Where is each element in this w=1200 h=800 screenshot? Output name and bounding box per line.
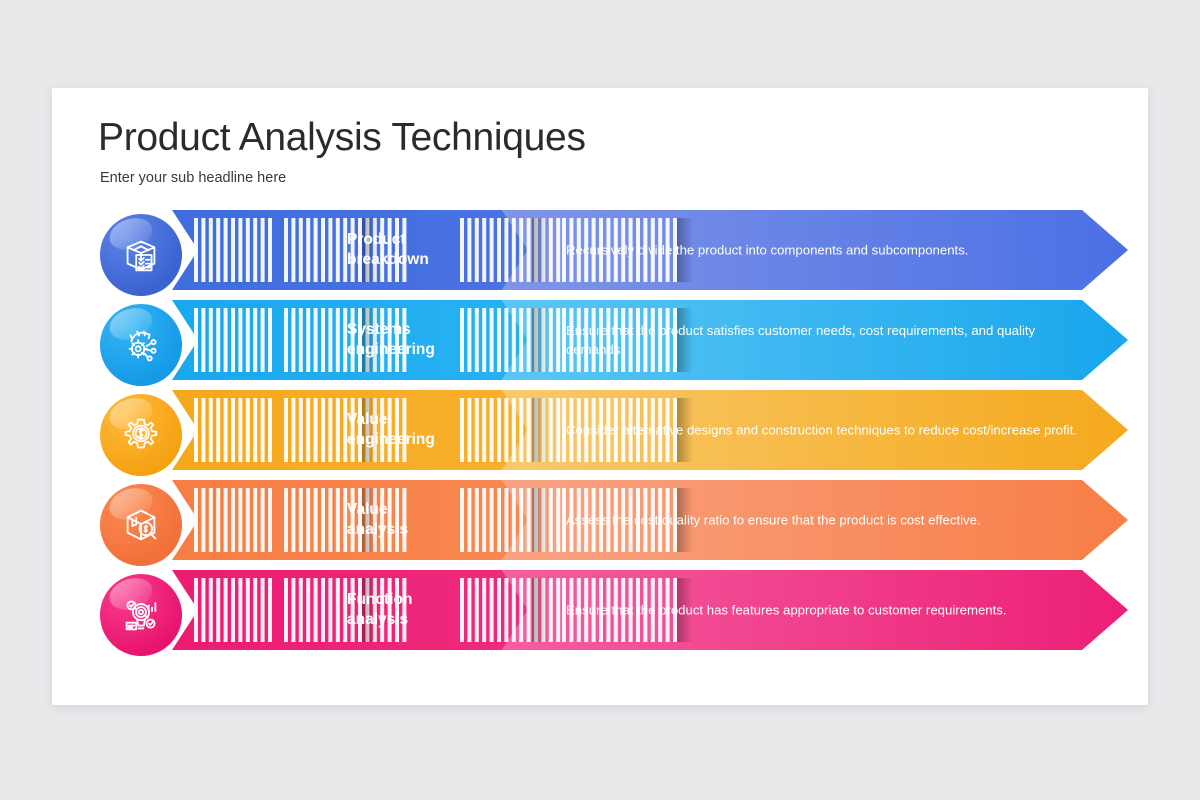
process-row-1[interactable]: Product breakdown Recursively divide the…	[52, 210, 1148, 290]
row-icon-circle-3[interactable]	[100, 394, 182, 476]
row-label-4: Value analysis	[347, 500, 482, 540]
process-rows: Product breakdown Recursively divide the…	[52, 210, 1148, 660]
gear-dollar-icon	[118, 412, 164, 458]
row-description-5: Ensure that the product has features app…	[566, 600, 1086, 619]
lightbulb-analysis-icon	[118, 592, 164, 638]
slide-card: Product Analysis Techniques Enter your s…	[52, 88, 1148, 705]
row-label-1: Product breakdown	[347, 230, 482, 270]
row-icon-circle-5[interactable]	[100, 574, 182, 656]
row-description-2: Ensure that the product satisfies custom…	[566, 321, 1086, 359]
row-description-4: Assess the cost/quality ratio to ensure …	[566, 510, 1086, 529]
row-label-3: Value engineering	[347, 410, 482, 450]
fold-shadow	[532, 578, 548, 642]
process-row-3[interactable]: Value engineering Consider alternative d…	[52, 390, 1148, 470]
row-icon-circle-4[interactable]	[100, 484, 182, 566]
row-label-5: Function analysis	[347, 590, 482, 630]
row-label-2: Systems engineering	[347, 320, 482, 360]
process-row-5[interactable]: Function analysis Ensure that the produc…	[52, 570, 1148, 650]
fold-shadow	[532, 308, 548, 372]
gear-network-icon	[118, 322, 164, 368]
page-subtitle: Enter your sub headline here	[100, 170, 286, 186]
row-description-3: Consider alternative designs and constru…	[566, 420, 1086, 439]
fold-shadow	[532, 218, 548, 282]
box-checklist-icon	[118, 232, 164, 278]
process-row-4[interactable]: Value analysis Assess the cost/quality r…	[52, 480, 1148, 560]
page-title: Product Analysis Techniques	[98, 116, 586, 160]
row-description-1: Recursively divide the product into comp…	[566, 240, 1086, 259]
fold-shadow	[532, 398, 548, 462]
row-icon-circle-2[interactable]	[100, 304, 182, 386]
process-row-2[interactable]: Systems engineering Ensure that the prod…	[52, 300, 1148, 380]
row-icon-circle-1[interactable]	[100, 214, 182, 296]
box-magnifier-dollar-icon	[118, 502, 164, 548]
fold-shadow	[532, 488, 548, 552]
